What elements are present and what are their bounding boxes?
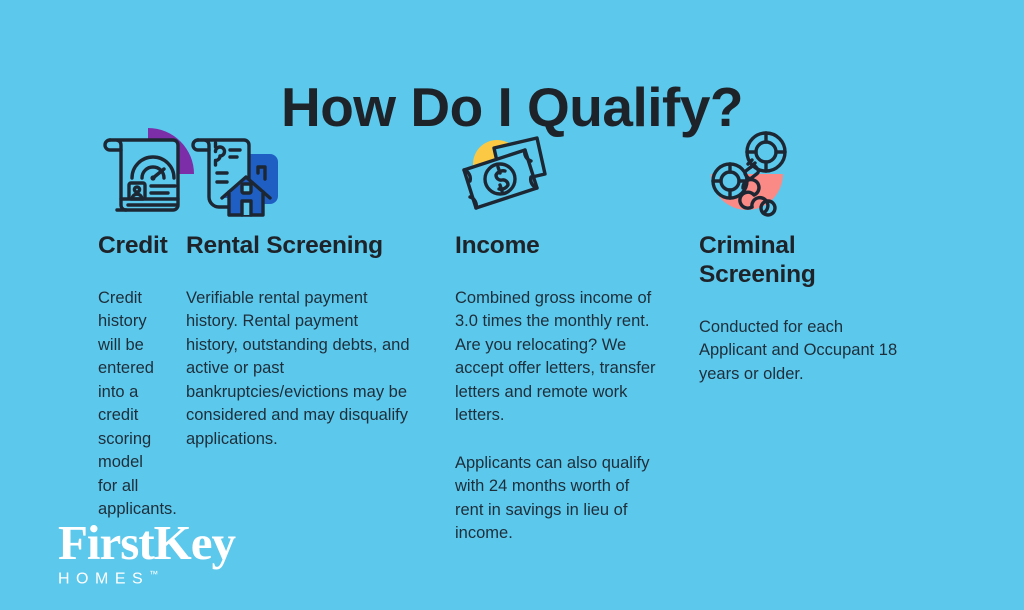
- qualification-infographic: How Do I Qualify?: [0, 0, 1024, 610]
- column-heading: Rental Screening: [186, 232, 411, 261]
- column-paragraph: Applicants can also qualify with 24 mont…: [455, 452, 659, 546]
- cash-money-icon: [455, 126, 565, 218]
- criteria-column-income: Income Combined gross income of 3.0 time…: [433, 126, 681, 546]
- criteria-column-credit: Credit Credit history will be entered in…: [0, 126, 186, 522]
- criteria-column-criminal-screening: Criminal Screening Conducted for each Ap…: [681, 126, 924, 386]
- logo-wordmark: FirstKey: [58, 518, 318, 567]
- firstkey-homes-logo: FirstKey HOMES™: [58, 518, 318, 588]
- rental-document-house-icon: [186, 126, 296, 218]
- column-paragraph: Combined gross income of 3.0 times the m…: [455, 287, 659, 428]
- trademark-symbol: ™: [149, 569, 158, 579]
- column-paragraph: Conducted for each Applicant and Occupan…: [699, 316, 902, 387]
- logo-subtext-label: HOMES: [58, 570, 149, 587]
- column-paragraph: Verifiable rental payment history. Renta…: [186, 287, 411, 452]
- handcuffs-icon: [699, 126, 809, 218]
- column-paragraph: Credit history will be entered into a cr…: [98, 287, 164, 522]
- column-heading: Credit: [98, 232, 164, 261]
- criteria-columns: Credit Credit history will be entered in…: [0, 126, 1024, 546]
- column-heading: Income: [455, 232, 659, 261]
- column-heading: Criminal Screening: [699, 232, 902, 290]
- logo-subtext: HOMES™: [58, 569, 318, 588]
- criteria-column-rental-screening: Rental Screening Verifiable rental payme…: [186, 126, 433, 451]
